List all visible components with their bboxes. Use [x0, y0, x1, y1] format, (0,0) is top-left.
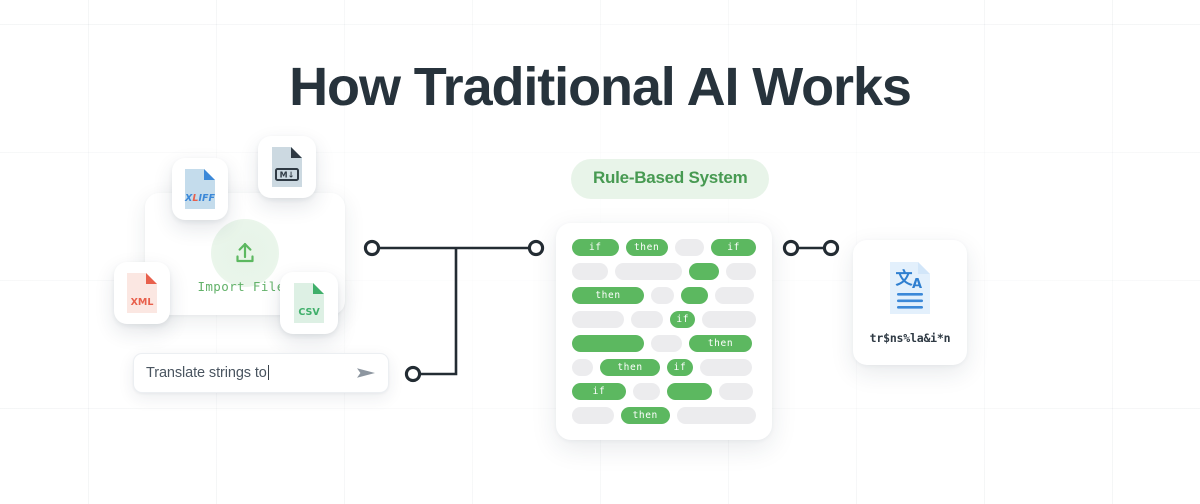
- rule-chip-blank: [677, 407, 756, 424]
- rule-chip-blank: [651, 287, 674, 304]
- rule-chip-blank: [631, 311, 663, 328]
- rule-chip-then: then: [572, 287, 644, 304]
- rule-chip-if: if: [670, 311, 695, 328]
- xml-file-icon[interactable]: XML: [114, 262, 170, 324]
- rule-chip-blank: [726, 263, 756, 280]
- node-rules-in[interactable]: [529, 241, 542, 254]
- svg-text:M↓: M↓: [280, 171, 295, 180]
- rule-chip-blank: [651, 335, 682, 352]
- rule-chip-blank: [615, 263, 682, 280]
- rule-chip-blank: [700, 359, 752, 376]
- svg-text:XML: XML: [131, 297, 154, 308]
- rule-row: then: [572, 407, 756, 424]
- rule-row: if: [572, 383, 756, 400]
- rules-panel: ifthenifthenifthenthenififthen: [556, 223, 772, 440]
- send-paper-plane-icon[interactable]: [356, 365, 376, 381]
- rule-chip-blank: [667, 383, 712, 400]
- rule-row: thenif: [572, 359, 756, 376]
- svg-text:A: A: [912, 277, 922, 292]
- diagram-canvas: How Traditional AI Works Import Files XL…: [0, 0, 1200, 504]
- rule-chip-blank: [572, 263, 608, 280]
- rule-chip-blank: [715, 287, 754, 304]
- rule-row: ifthenif: [572, 239, 756, 256]
- rule-chip-blank: [689, 263, 720, 280]
- prompt-input[interactable]: Translate strings to: [133, 353, 389, 393]
- rule-chip-if: if: [572, 383, 626, 400]
- rule-based-system-badge: Rule-Based System: [571, 159, 769, 199]
- rule-chip-blank: [675, 239, 705, 256]
- svg-text:文: 文: [896, 268, 914, 289]
- rule-row: [572, 263, 756, 280]
- rule-chip-if: if: [711, 239, 756, 256]
- prompt-input-text: Translate strings to: [146, 365, 267, 381]
- rule-chip-blank: [572, 359, 593, 376]
- svg-text:XLIFF: XLIFF: [184, 193, 215, 204]
- csv-file-icon[interactable]: CSV: [280, 272, 338, 334]
- markdown-file-icon[interactable]: M↓: [258, 136, 316, 198]
- prompt-input-value[interactable]: Translate strings to: [146, 365, 356, 381]
- upload-arrow-icon[interactable]: [211, 219, 279, 287]
- rule-chip-then: then: [626, 239, 668, 256]
- rule-chip-blank: [572, 311, 624, 328]
- rules-rows: ifthenifthenifthenthenififthen: [572, 239, 756, 424]
- svg-text:CSV: CSV: [298, 307, 320, 318]
- rule-row: then: [572, 287, 756, 304]
- node-prompt-out[interactable]: [406, 367, 419, 380]
- rule-row: then: [572, 335, 756, 352]
- rule-chip-blank: [681, 287, 708, 304]
- translate-document-icon: 文 A: [887, 260, 933, 321]
- translation-output-label: tr$ns%la&i*n: [870, 331, 951, 345]
- page-title: How Traditional AI Works: [0, 54, 1200, 120]
- rule-chip-if: if: [667, 359, 693, 376]
- rule-chip-then: then: [621, 407, 670, 424]
- translation-output-card[interactable]: 文 A tr$ns%la&i*n: [853, 240, 967, 365]
- node-rules-out[interactable]: [784, 241, 797, 254]
- rule-row: if: [572, 311, 756, 328]
- rule-chip-blank: [719, 383, 753, 400]
- rule-chip-then: then: [689, 335, 752, 352]
- node-output-in[interactable]: [824, 241, 837, 254]
- rule-chip-if: if: [572, 239, 619, 256]
- node-input-left[interactable]: [365, 241, 378, 254]
- rule-chip-blank: [633, 383, 660, 400]
- rule-chip-blank: [572, 407, 614, 424]
- rule-chip-blank: [702, 311, 756, 328]
- rule-chip-blank: [572, 335, 644, 352]
- rule-chip-then: then: [600, 359, 660, 376]
- xliff-file-icon[interactable]: XLIFF: [172, 158, 228, 220]
- text-caret: [268, 365, 269, 380]
